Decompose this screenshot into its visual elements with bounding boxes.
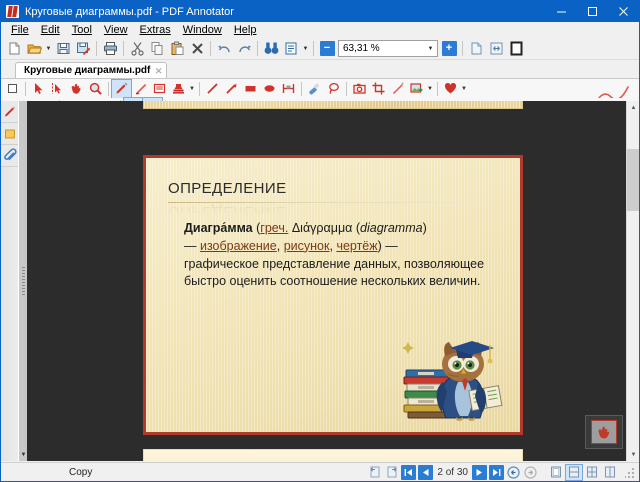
minimize-button[interactable] bbox=[546, 1, 577, 22]
paste-button[interactable] bbox=[167, 39, 187, 59]
menu-tool-label: Tool bbox=[72, 24, 92, 36]
chevron-down-icon[interactable]: ▼ bbox=[424, 41, 437, 56]
slide-rest-text: графическое представление данных, позвол… bbox=[184, 257, 484, 289]
toolbar-separator bbox=[301, 82, 302, 96]
page-layout-dropdown-arrow[interactable]: ▼ bbox=[301, 39, 310, 59]
zoom-plus-icon: + bbox=[442, 41, 457, 56]
view-mode-group bbox=[547, 465, 619, 480]
back-navigation-button[interactable] bbox=[505, 465, 522, 480]
page-layout-button[interactable] bbox=[281, 39, 301, 59]
line-tool[interactable] bbox=[203, 80, 222, 98]
close-button[interactable] bbox=[608, 1, 639, 22]
lasso-tool[interactable] bbox=[324, 80, 343, 98]
toolbar-separator bbox=[199, 82, 200, 96]
toolbar-separator bbox=[108, 82, 109, 96]
slide-dash-1: — bbox=[184, 239, 197, 253]
menu-file[interactable]: File bbox=[5, 23, 35, 37]
slide-title-reflection: ОПРЕДЕЛЕНИЕ bbox=[168, 203, 287, 220]
slide-dash-2: — bbox=[385, 239, 398, 253]
facing-view-button[interactable] bbox=[584, 465, 600, 480]
title-bar: Круговые диаграммы.pdf - PDF Annotator bbox=[1, 1, 639, 22]
eraser-tool[interactable] bbox=[305, 80, 324, 98]
slide-comma-1: , bbox=[277, 239, 280, 253]
owl-with-books-icon bbox=[398, 334, 506, 426]
maximize-button[interactable] bbox=[577, 1, 608, 22]
hand-tool[interactable] bbox=[67, 80, 86, 98]
text-box-tool[interactable] bbox=[150, 80, 169, 98]
menu-window[interactable]: Window bbox=[177, 23, 228, 37]
slide-body: Диагра́мма (греч. Διάγραμμα (diagramma) … bbox=[184, 220, 504, 291]
magnifier-tool[interactable] bbox=[86, 80, 105, 98]
toolbar-separator bbox=[257, 41, 258, 56]
sidebar-item-annotations[interactable] bbox=[1, 101, 18, 123]
zoom-value: 63,31 % bbox=[343, 43, 424, 54]
select-area-tool[interactable] bbox=[48, 80, 67, 98]
previous-page-sheet bbox=[143, 101, 523, 109]
window-controls bbox=[546, 1, 639, 22]
toolbar-separator bbox=[25, 82, 26, 96]
toolbar-separator bbox=[96, 41, 97, 56]
zoom-out-button[interactable]: − bbox=[317, 39, 337, 59]
redact-pencil-tool[interactable] bbox=[388, 80, 407, 98]
slide-link-drawing[interactable]: рисунок bbox=[284, 239, 330, 253]
previous-page-button[interactable] bbox=[418, 465, 433, 480]
snapshot-tool[interactable] bbox=[350, 80, 369, 98]
slide-translit-close: ) bbox=[423, 221, 427, 235]
rectangle-tool[interactable] bbox=[241, 80, 260, 98]
favorites-dropdown-arrow[interactable]: ▼ bbox=[460, 80, 468, 98]
menu-extras-label: Extras bbox=[140, 24, 171, 36]
status-text: Copy bbox=[69, 467, 92, 478]
panel-toggle-button[interactable] bbox=[3, 80, 22, 98]
redo-button[interactable] bbox=[234, 39, 254, 59]
single-page-view-button[interactable] bbox=[548, 465, 564, 480]
page-navigation: 2 of 30 bbox=[366, 465, 639, 480]
slide-title: ОПРЕДЕЛЕНИЕ bbox=[168, 180, 287, 197]
highlighter-tool[interactable] bbox=[131, 80, 150, 98]
app-icon bbox=[6, 5, 19, 18]
menu-view-label: View bbox=[104, 24, 128, 36]
vertical-scrollbar[interactable]: ▲ ▼ bbox=[626, 101, 639, 461]
annotation-toolbar: ▼ bbox=[1, 78, 639, 98]
slide-term: Диагра́мма bbox=[184, 221, 253, 235]
document-tab-label: Круговые диаграммы.pdf bbox=[24, 65, 150, 76]
red-marker-icon bbox=[4, 106, 16, 118]
slide-comma-2: , bbox=[329, 239, 332, 253]
toolbar-separator bbox=[462, 41, 463, 56]
close-icon[interactable]: ✕ bbox=[155, 66, 163, 77]
copy-button[interactable] bbox=[147, 39, 167, 59]
favorites-tool[interactable] bbox=[441, 80, 460, 98]
crop-tool[interactable] bbox=[369, 80, 388, 98]
next-page-sheet bbox=[143, 449, 523, 461]
last-page-button[interactable] bbox=[489, 465, 504, 480]
document-tab[interactable]: Круговые диаграммы.pdf ✕ bbox=[15, 62, 167, 78]
toolbar-separator bbox=[313, 41, 314, 56]
undo-button[interactable] bbox=[214, 39, 234, 59]
stamp-tool[interactable] bbox=[169, 80, 188, 98]
document-viewport[interactable]: ОПРЕДЕЛЕНИЕ ОПРЕДЕЛЕНИЕ Диагра́мма (греч… bbox=[27, 101, 639, 461]
print-button[interactable] bbox=[100, 39, 120, 59]
toolbar-separator bbox=[210, 41, 211, 56]
arrow-tool[interactable] bbox=[222, 80, 241, 98]
menu-file-label: File bbox=[11, 24, 29, 36]
body-area: ▼ ОПРЕДЕЛЕНИЕ ОПРЕДЕЛЕНИЕ Диагра́мма (гр… bbox=[1, 101, 639, 461]
find-button[interactable] bbox=[261, 39, 281, 59]
window-title: Круговые диаграммы.pdf - PDF Annotator bbox=[25, 6, 234, 18]
insert-image-tool[interactable] bbox=[407, 80, 426, 98]
page-view-button[interactable] bbox=[466, 39, 486, 59]
splitter-grip bbox=[22, 267, 25, 295]
current-page-sheet[interactable]: ОПРЕДЕЛЕНИЕ ОПРЕДЕЛЕНИЕ Диагра́мма (греч… bbox=[143, 155, 523, 435]
forward-navigation-button[interactable] bbox=[522, 465, 539, 480]
scrollbar-thumb[interactable] bbox=[627, 149, 639, 211]
menu-view[interactable]: View bbox=[98, 23, 134, 37]
page-indicator[interactable]: 2 of 30 bbox=[434, 465, 471, 480]
slide-greek-word: Διάγραμμα bbox=[292, 221, 353, 235]
window-resize-grip[interactable] bbox=[625, 466, 637, 478]
new-document-button[interactable] bbox=[4, 39, 24, 59]
main-toolbar: ▼ bbox=[1, 38, 639, 60]
save-as-button[interactable] bbox=[73, 39, 93, 59]
next-page-button[interactable] bbox=[472, 465, 487, 480]
scroll-down-button[interactable]: ▼ bbox=[627, 448, 639, 461]
slide-link-greek[interactable]: греч. bbox=[260, 221, 288, 235]
save-button[interactable] bbox=[53, 39, 73, 59]
open-document-button[interactable] bbox=[24, 39, 44, 59]
red-hand-icon bbox=[596, 424, 612, 440]
menu-edit-label: Edit bbox=[41, 24, 60, 36]
two-column-view-button[interactable] bbox=[602, 465, 618, 480]
open-dropdown-arrow[interactable]: ▼ bbox=[44, 39, 53, 59]
stamp-dropdown-arrow[interactable]: ▼ bbox=[188, 80, 196, 98]
insert-image-dropdown-arrow[interactable]: ▼ bbox=[426, 80, 434, 98]
floating-tool-panel[interactable] bbox=[585, 415, 623, 449]
sidebar-item-pages[interactable] bbox=[1, 123, 18, 145]
toolbar-separator bbox=[346, 82, 347, 96]
menu-help-label: Help bbox=[234, 24, 257, 36]
menu-tool[interactable]: Tool bbox=[66, 23, 98, 37]
yellow-page-icon bbox=[4, 128, 16, 140]
statusbar-left-spacer bbox=[1, 463, 13, 482]
document-tab-strip: Круговые диаграммы.pdf ✕ bbox=[1, 60, 639, 78]
title-divider bbox=[168, 202, 488, 203]
slide-translit: diagramma bbox=[360, 221, 423, 235]
sidebar-splitter[interactable]: ▼ bbox=[18, 101, 27, 461]
left-dock bbox=[1, 101, 18, 461]
select-tool[interactable] bbox=[29, 80, 48, 98]
zoom-combobox[interactable]: 63,31 % ▼ bbox=[338, 40, 438, 57]
menu-edit[interactable]: Edit bbox=[35, 23, 66, 37]
dock-empty-area bbox=[1, 167, 18, 461]
chevron-down-icon[interactable]: ▼ bbox=[20, 451, 27, 459]
menu-window-label: Window bbox=[183, 24, 222, 36]
next-view-button[interactable] bbox=[383, 465, 400, 480]
toolbar-separator bbox=[123, 41, 124, 56]
hand-annotation-button[interactable] bbox=[591, 420, 617, 444]
sidebar-item-attachments[interactable] bbox=[1, 145, 18, 167]
blue-paperclip-icon bbox=[4, 150, 16, 162]
menu-bar: File Edit Tool View Extras Window Help bbox=[1, 22, 639, 38]
cut-button[interactable] bbox=[127, 39, 147, 59]
continuous-view-button[interactable] bbox=[566, 465, 582, 480]
fit-page-button[interactable] bbox=[486, 39, 506, 59]
first-page-button[interactable] bbox=[401, 465, 416, 480]
slide-close-paren: ) bbox=[378, 239, 382, 253]
zoom-in-button[interactable]: + bbox=[439, 39, 459, 59]
previous-view-button[interactable] bbox=[366, 465, 383, 480]
ellipse-tool[interactable] bbox=[260, 80, 279, 98]
status-bar: Copy 2 of 30 bbox=[1, 462, 639, 481]
menu-help[interactable]: Help bbox=[228, 23, 263, 37]
pdf-annotator-window: Круговые диаграммы.pdf - PDF Annotator F… bbox=[0, 0, 640, 482]
pen-tool[interactable] bbox=[112, 80, 131, 98]
slide-link-blueprint[interactable]: чертёж bbox=[336, 239, 377, 253]
slide-link-image[interactable]: изображение bbox=[200, 239, 277, 253]
toolbar-separator bbox=[437, 82, 438, 96]
delete-button[interactable] bbox=[187, 39, 207, 59]
full-screen-button[interactable] bbox=[506, 39, 526, 59]
measure-tool[interactable] bbox=[279, 80, 298, 98]
menu-extras[interactable]: Extras bbox=[134, 23, 177, 37]
scroll-up-button[interactable]: ▲ bbox=[627, 101, 639, 114]
zoom-minus-icon: − bbox=[320, 41, 335, 56]
